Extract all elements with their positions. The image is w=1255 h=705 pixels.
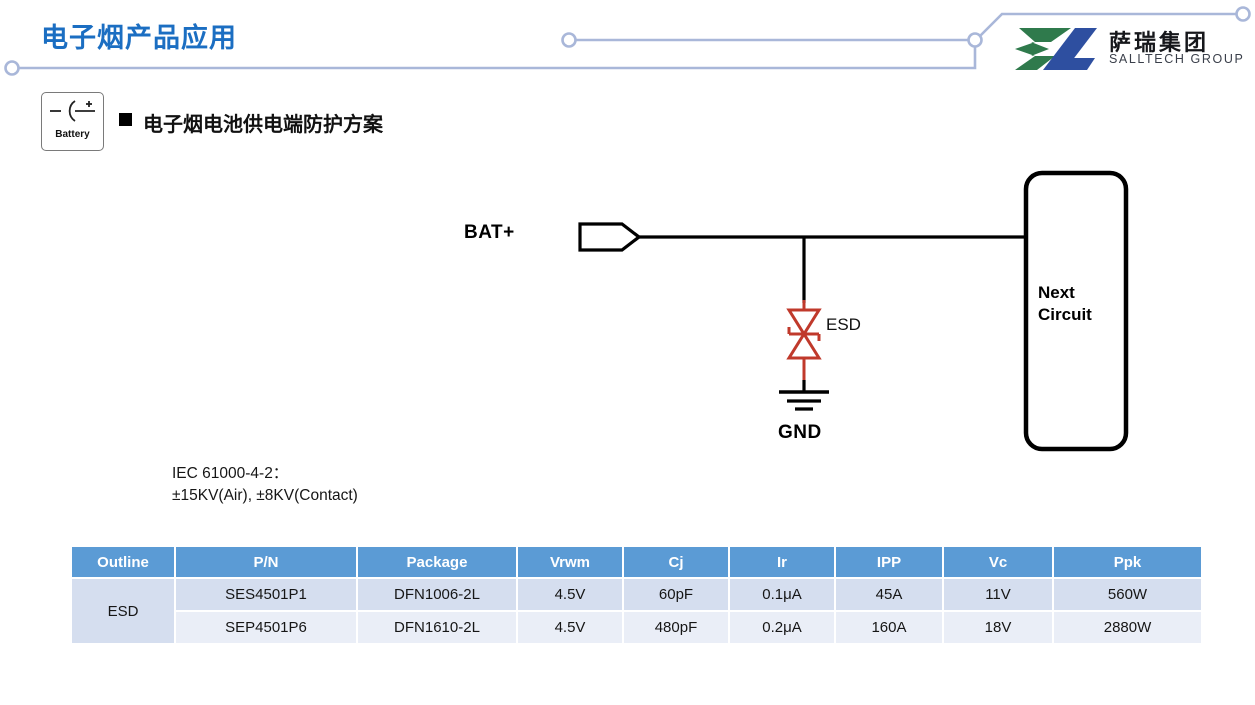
column-header-vrwm: Vrwm	[518, 547, 622, 577]
iec-standard-line1: IEC 61000-4-2：	[172, 463, 358, 485]
deco-node-middle	[563, 34, 576, 47]
table-row: ESD SES4501P1 DFN1006-2L 4.5V 60pF 0.1μA…	[72, 579, 1201, 610]
cell-package: DFN1006-2L	[358, 579, 516, 610]
column-header-pn: P/N	[176, 547, 356, 577]
cell-pn: SEP4501P6	[176, 612, 356, 643]
next-circuit-label: Next Circuit	[1038, 282, 1092, 326]
cell-cj: 480pF	[624, 612, 728, 643]
cell-ir: 0.1μA	[730, 579, 834, 610]
cell-vrwm: 4.5V	[518, 579, 622, 610]
cell-cj: 60pF	[624, 579, 728, 610]
salltech-logo-mark	[1009, 28, 1101, 70]
column-header-cj: Cj	[624, 547, 728, 577]
table-header-row: Outline P/N Package Vrwm Cj Ir IPP Vc Pp…	[72, 547, 1201, 577]
next-circuit-label-line1: Next	[1038, 282, 1092, 304]
deco-node-junction	[969, 34, 982, 47]
battery-icon-badge: Battery	[41, 92, 104, 151]
bat-plus-label: BAT+	[464, 222, 515, 244]
cell-outline-group: ESD	[72, 579, 174, 643]
cell-vrwm: 4.5V	[518, 612, 622, 643]
next-circuit-label-line2: Circuit	[1038, 304, 1092, 326]
cell-package: DFN1610-2L	[358, 612, 516, 643]
cell-vc: 11V	[944, 579, 1052, 610]
square-bullet-icon	[119, 113, 132, 126]
column-header-vc: Vc	[944, 547, 1052, 577]
section-heading: 电子烟电池供电端防护方案	[143, 108, 383, 137]
iec-standard-line2: ±15KV(Air), ±8KV(Contact)	[172, 485, 358, 507]
spec-table: Outline P/N Package Vrwm Cj Ir IPP Vc Pp…	[70, 545, 1203, 645]
cell-pn: SES4501P1	[176, 579, 356, 610]
gnd-label: GND	[778, 422, 822, 444]
iec-standard-note: IEC 61000-4-2： ±15KV(Air), ±8KV(Contact)	[172, 463, 358, 507]
bat-connector-shape	[580, 224, 639, 250]
esd-tvs-diode-symbol	[789, 300, 819, 386]
brand-logo: 萨瑞集团 SALLTECH GROUP	[1009, 26, 1249, 72]
cell-vc: 18V	[944, 612, 1052, 643]
page-title: 电子烟产品应用	[41, 16, 237, 55]
cell-ppk: 560W	[1054, 579, 1201, 610]
cell-ipp: 160A	[836, 612, 942, 643]
ground-symbol	[779, 380, 829, 409]
logo-english-name: SALLTECH GROUP	[1109, 52, 1244, 66]
battery-icon	[42, 93, 103, 131]
esd-label: ESD	[826, 315, 861, 335]
cell-ppk: 2880W	[1054, 612, 1201, 643]
deco-node-left	[6, 62, 19, 75]
column-header-package: Package	[358, 547, 516, 577]
column-header-outline: Outline	[72, 547, 174, 577]
battery-icon-label: Battery	[42, 129, 103, 140]
table-row: SEP4501P6 DFN1610-2L 4.5V 480pF 0.2μA 16…	[72, 612, 1201, 643]
slide-root: 电子烟产品应用 萨瑞集团 SALLTECH GROUP Battery 电子烟电…	[0, 0, 1255, 705]
column-header-ipp: IPP	[836, 547, 942, 577]
deco-node-right	[1237, 8, 1250, 21]
column-header-ir: Ir	[730, 547, 834, 577]
cell-ipp: 45A	[836, 579, 942, 610]
column-header-ppk: Ppk	[1054, 547, 1201, 577]
cell-ir: 0.2μA	[730, 612, 834, 643]
